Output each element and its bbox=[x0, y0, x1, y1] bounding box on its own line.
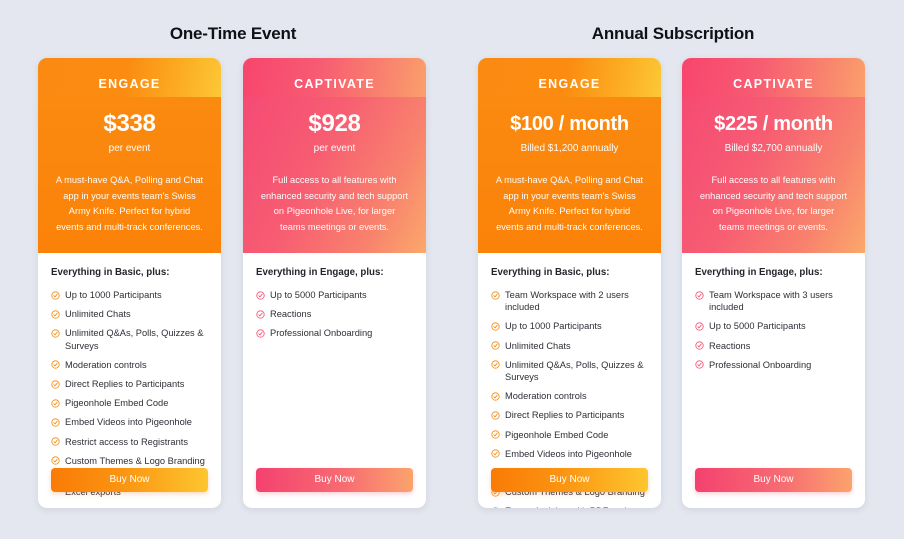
feature-label: Up to 1000 Participants bbox=[505, 320, 602, 332]
check-circle-icon bbox=[491, 341, 500, 350]
pricing-page: One-Time Event Annual Subscription ENGAG… bbox=[0, 0, 904, 539]
pricing-card-header: ENGAGE $338 per event A must-have Q&A, P… bbox=[38, 58, 221, 253]
plan-price-subtext: Billed $2,700 annually bbox=[694, 141, 853, 157]
feature-item: Unlimited Q&As, Polls, Quizzes & Surveys bbox=[51, 327, 208, 351]
pricing-card-engage-2[interactable]: ENGAGE $100 / month Billed $1,200 annual… bbox=[478, 58, 661, 508]
check-circle-icon bbox=[256, 291, 265, 300]
feature-label: Up to 5000 Participants bbox=[270, 289, 367, 301]
check-circle-icon bbox=[51, 456, 60, 465]
feature-label: Team Workspace with 2 users included bbox=[505, 289, 648, 313]
pricing-card-header: CAPTIVATE $928 per event Full access to … bbox=[243, 58, 426, 253]
pricing-card-body: Everything in Basic, plus: Team Workspac… bbox=[478, 253, 661, 468]
feature-label: Unlimited Q&As, Polls, Quizzes & Surveys bbox=[505, 359, 648, 383]
pricing-card-body: Everything in Basic, plus: Up to 1000 Pa… bbox=[38, 253, 221, 468]
features-list: Up to 5000 ParticipantsReactionsProfessi… bbox=[256, 289, 413, 468]
check-circle-icon bbox=[256, 310, 265, 319]
feature-item: Restrict access to Registrants bbox=[51, 436, 208, 448]
section-title-annual-subscription: Annual Subscription bbox=[478, 24, 868, 44]
plan-name: ENGAGE bbox=[490, 72, 649, 96]
pricing-card-engage-0[interactable]: ENGAGE $338 per event A must-have Q&A, P… bbox=[38, 58, 221, 508]
plan-description: A must-have Q&A, Polling and Chat app in… bbox=[50, 173, 209, 235]
feature-item: Professional Onboarding bbox=[256, 327, 413, 339]
feature-item: Reactions bbox=[256, 308, 413, 320]
pricing-card-body: Everything in Engage, plus: Up to 5000 P… bbox=[243, 253, 426, 468]
plan-name: ENGAGE bbox=[50, 72, 209, 96]
features-title: Everything in Basic, plus: bbox=[491, 267, 648, 278]
feature-item: Moderation controls bbox=[491, 390, 648, 402]
buy-button-wrapper: Buy Now bbox=[243, 468, 426, 508]
feature-label: Unlimited Q&As, Polls, Quizzes & Surveys bbox=[65, 327, 208, 351]
feature-item: Team Workspace with 2 users included bbox=[491, 289, 648, 313]
buy-button-wrapper: Buy Now bbox=[38, 468, 221, 508]
plan-price-subtext: Billed $1,200 annually bbox=[490, 141, 649, 157]
features-list: Team Workspace with 3 users includedUp t… bbox=[695, 289, 852, 468]
feature-label: Moderation controls bbox=[505, 390, 587, 402]
check-circle-icon bbox=[491, 411, 500, 420]
feature-label: Embed Videos into Pigeonhole bbox=[65, 416, 192, 428]
buy-now-button[interactable]: Buy Now bbox=[695, 468, 852, 492]
feature-label: Reactions bbox=[270, 308, 311, 320]
buy-now-button[interactable]: Buy Now bbox=[491, 468, 648, 492]
check-circle-icon bbox=[491, 360, 500, 369]
feature-label: Up to 5000 Participants bbox=[709, 320, 806, 332]
check-circle-icon bbox=[491, 291, 500, 300]
check-circle-icon bbox=[51, 329, 60, 338]
check-circle-icon bbox=[51, 437, 60, 446]
check-circle-icon bbox=[51, 418, 60, 427]
feature-label: Unlimited Chats bbox=[65, 308, 131, 320]
feature-item: Unlimited Chats bbox=[51, 308, 208, 320]
feature-item: Team Workspace with 3 users included bbox=[695, 289, 852, 313]
feature-item: Up to 5000 Participants bbox=[256, 289, 413, 301]
feature-label: Professional Onboarding bbox=[709, 359, 811, 371]
plan-price: $100 / month bbox=[490, 110, 649, 138]
plan-price: $225 / month bbox=[694, 110, 853, 138]
pricing-card-body: Everything in Engage, plus: Team Workspa… bbox=[682, 253, 865, 468]
check-circle-icon bbox=[51, 380, 60, 389]
plan-description: Full access to all features with enhance… bbox=[694, 173, 853, 235]
pricing-card-captivate-1[interactable]: CAPTIVATE $928 per event Full access to … bbox=[243, 58, 426, 508]
features-title: Everything in Engage, plus: bbox=[256, 267, 413, 278]
feature-item: Direct Replies to Participants bbox=[51, 378, 208, 390]
feature-item: Pigeonhole Embed Code bbox=[491, 429, 648, 441]
check-circle-icon bbox=[491, 430, 500, 439]
plan-description: Full access to all features with enhance… bbox=[255, 173, 414, 235]
check-circle-icon bbox=[695, 360, 704, 369]
feature-label: Pigeonhole Embed Code bbox=[505, 429, 608, 441]
feature-label: Embed Videos into Pigeonhole bbox=[505, 448, 632, 460]
check-circle-icon bbox=[695, 322, 704, 331]
feature-item: Reactions bbox=[695, 340, 852, 352]
check-circle-icon bbox=[51, 291, 60, 300]
feature-item: Embed Videos into Pigeonhole bbox=[491, 448, 648, 460]
feature-item: Custom Themes & Logo Branding bbox=[51, 455, 208, 467]
feature-label: Pigeonhole Embed Code bbox=[65, 397, 168, 409]
features-title: Everything in Engage, plus: bbox=[695, 267, 852, 278]
feature-item: Unlimited Chats bbox=[491, 340, 648, 352]
feature-label: Reactions bbox=[709, 340, 750, 352]
feature-label: Direct Replies to Participants bbox=[505, 409, 624, 421]
check-circle-icon bbox=[491, 322, 500, 331]
feature-item: Direct Replies to Participants bbox=[491, 409, 648, 421]
feature-item: Unlimited Q&As, Polls, Quizzes & Surveys bbox=[491, 359, 648, 383]
plan-name: CAPTIVATE bbox=[255, 72, 414, 96]
plan-price: $928 bbox=[255, 110, 414, 138]
feature-item: Pigeonhole Embed Code bbox=[51, 397, 208, 409]
check-circle-icon bbox=[51, 399, 60, 408]
feature-label: Up to 1000 Participants bbox=[65, 289, 162, 301]
check-circle-icon bbox=[491, 392, 500, 401]
feature-label: Moderation controls bbox=[65, 359, 147, 371]
feature-label: Restrict access to Registrants bbox=[65, 436, 188, 448]
section-title-one-time-event: One-Time Event bbox=[38, 24, 428, 44]
pricing-card-captivate-3[interactable]: CAPTIVATE $225 / month Billed $2,700 ann… bbox=[682, 58, 865, 508]
feature-label: Custom Themes & Logo Branding bbox=[65, 455, 205, 467]
feature-item: Up to 1000 Participants bbox=[51, 289, 208, 301]
features-title: Everything in Basic, plus: bbox=[51, 267, 208, 278]
plan-price-subtext: per event bbox=[50, 141, 209, 157]
plan-price: $338 bbox=[50, 110, 209, 138]
plan-price-subtext: per event bbox=[255, 141, 414, 157]
feature-item: Embed Videos into Pigeonhole bbox=[51, 416, 208, 428]
feature-label: Professional Onboarding bbox=[270, 327, 372, 339]
feature-item: Up to 5000 Participants bbox=[695, 320, 852, 332]
check-circle-icon bbox=[51, 310, 60, 319]
check-circle-icon bbox=[491, 449, 500, 458]
pricing-card-header: CAPTIVATE $225 / month Billed $2,700 ann… bbox=[682, 58, 865, 253]
buy-now-button[interactable]: Buy Now bbox=[51, 468, 208, 492]
pricing-card-header: ENGAGE $100 / month Billed $1,200 annual… bbox=[478, 58, 661, 253]
buy-now-button[interactable]: Buy Now bbox=[256, 468, 413, 492]
check-circle-icon bbox=[695, 291, 704, 300]
feature-item: Up to 1000 Participants bbox=[491, 320, 648, 332]
feature-label: Unlimited Chats bbox=[505, 340, 571, 352]
check-circle-icon bbox=[51, 360, 60, 369]
feature-label: Team Workspace with 3 users included bbox=[709, 289, 852, 313]
plan-name: CAPTIVATE bbox=[694, 72, 853, 96]
feature-label: Direct Replies to Participants bbox=[65, 378, 184, 390]
plan-description: A must-have Q&A, Polling and Chat app in… bbox=[490, 173, 649, 235]
check-circle-icon bbox=[256, 329, 265, 338]
check-circle-icon bbox=[695, 341, 704, 350]
buy-button-wrapper: Buy Now bbox=[682, 468, 865, 508]
buy-button-wrapper: Buy Now bbox=[478, 468, 661, 508]
feature-item: Moderation controls bbox=[51, 359, 208, 371]
feature-item: Professional Onboarding bbox=[695, 359, 852, 371]
